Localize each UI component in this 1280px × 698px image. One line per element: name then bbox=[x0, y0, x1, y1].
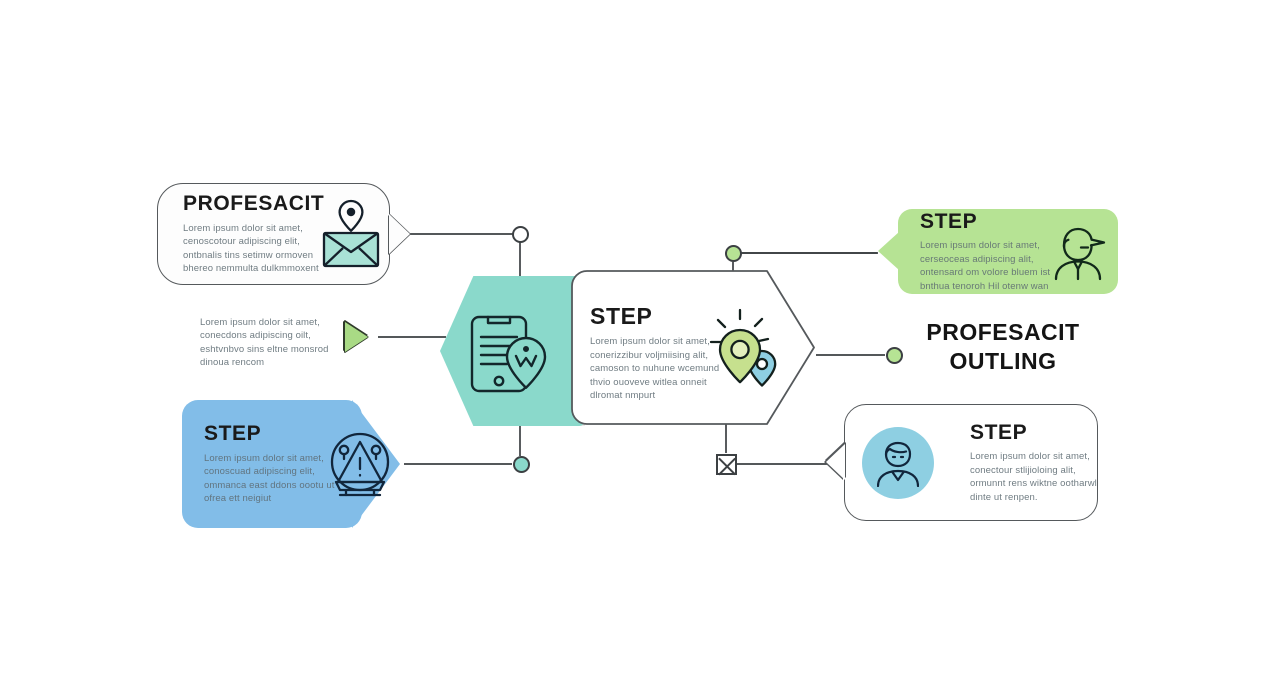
body-line: conoscuad adipiscing elit, bbox=[204, 465, 335, 478]
card-step-white-tail bbox=[826, 444, 845, 480]
card-center-body: Lorem ipsum dolor sit amet, conerizzibur… bbox=[590, 335, 719, 402]
card-profesacit-text: PROFESACIT Lorem ipsum dolor sit amet, c… bbox=[183, 192, 324, 275]
body-line: ormunnt rens wiktne ootharwl bbox=[970, 477, 1097, 490]
card-step-green-title: STEP bbox=[920, 210, 1050, 233]
body-line: conerizzibur voljmiising alit, bbox=[590, 349, 719, 362]
card-center-text: STEP Lorem ipsum dolor sit amet, coneriz… bbox=[590, 304, 719, 403]
document-phone-pin-icon bbox=[468, 313, 556, 395]
body-line: ontbnalis tins setimw ormoven bbox=[183, 249, 324, 262]
person-avatar-icon bbox=[877, 441, 919, 487]
body-line: cenoscotour adipiscing elit, bbox=[183, 235, 324, 248]
body-line: Lorem ipsum dolor sit amet, bbox=[970, 450, 1097, 463]
body-line: Lorem ipsum dolor sit amet, bbox=[183, 222, 324, 235]
card-step-white-body: Lorem ipsum dolor sit amet, conectour st… bbox=[970, 450, 1097, 504]
card-center-title: STEP bbox=[590, 304, 719, 329]
node-green-circle-upper[interactable] bbox=[725, 245, 742, 262]
body-line: camoson to nuhune wcemund bbox=[590, 362, 719, 375]
infographic-canvas: PROFESACIT Lorem ipsum dolor sit amet, c… bbox=[0, 0, 1280, 698]
card-step-blue-body: Lorem ipsum dolor sit amet, conoscuad ad… bbox=[204, 452, 335, 506]
card-step-blue[interactable]: STEP Lorem ipsum dolor sit amet, conoscu… bbox=[182, 400, 362, 528]
envelope-pin-icon bbox=[318, 197, 384, 269]
body-line: Lorem ipsum dolor sit amet, bbox=[920, 239, 1050, 252]
body-line: Lorem ipsum dolor sit amet, bbox=[204, 452, 335, 465]
body-line: dinoua rencom bbox=[200, 356, 330, 369]
body-line: thvio ouoveve witlea onneit bbox=[590, 376, 719, 389]
card-profesacit-tail bbox=[389, 214, 410, 254]
card-step-green-body: Lorem ipsum dolor sit amet, cerseoceas a… bbox=[920, 239, 1050, 293]
heading-line-1: PROFESACIT bbox=[918, 318, 1088, 347]
body-line: bhereo nemmulta dulkmmoxent bbox=[183, 262, 324, 275]
node-teal-circle-lower[interactable] bbox=[513, 456, 530, 473]
body-line: conecdons adipiscing oilt, bbox=[200, 329, 330, 342]
green-triangle-marker[interactable] bbox=[345, 322, 368, 352]
card-step-white-title: STEP bbox=[970, 421, 1097, 444]
body-line: cerseoceas adipiscing alit, bbox=[920, 253, 1050, 266]
card-profesacit[interactable]: PROFESACIT Lorem ipsum dolor sit amet, c… bbox=[157, 183, 390, 285]
twin-location-pins-icon bbox=[708, 308, 792, 390]
person-cap-icon bbox=[1048, 223, 1108, 281]
heading-line-2: OUTLING bbox=[918, 347, 1088, 376]
card-profesacit-title: PROFESACIT bbox=[183, 192, 324, 215]
card-step-green-tail bbox=[878, 232, 899, 270]
card-step-green[interactable]: STEP Lorem ipsum dolor sit amet, cerseoc… bbox=[898, 209, 1118, 294]
body-line: conectour stlijioloing alit, bbox=[970, 464, 1097, 477]
body-line: Lorem ipsum dolor sit amet, bbox=[200, 316, 330, 329]
loose-text-block: Lorem ipsum dolor sit amet, conecdons ad… bbox=[200, 316, 330, 370]
body-line: bnthua tenoroh Hil otenw wan bbox=[920, 280, 1050, 293]
node-green-circle-right[interactable] bbox=[886, 347, 903, 364]
warning-dish-icon bbox=[324, 428, 396, 500]
loose-text-body: Lorem ipsum dolor sit amet, conecdons ad… bbox=[200, 316, 330, 370]
card-step-blue-text: STEP Lorem ipsum dolor sit amet, conoscu… bbox=[204, 422, 335, 505]
body-line: Lorem ipsum dolor sit amet, bbox=[590, 335, 719, 348]
body-line: ontensard om volore bluem ist bbox=[920, 266, 1050, 279]
body-line: ommanca east ddons oootu ut bbox=[204, 479, 335, 492]
body-line: ofrea ett neigiut bbox=[204, 492, 335, 505]
body-line: dinte ut renpen. bbox=[970, 491, 1097, 504]
node-square-x[interactable] bbox=[716, 454, 737, 475]
card-step-blue-title: STEP bbox=[204, 422, 335, 445]
body-line: eshtvnbvo sins eltne monsrod bbox=[200, 343, 330, 356]
card-center[interactable]: STEP Lorem ipsum dolor sit amet, coneriz… bbox=[440, 270, 815, 430]
node-top-white-circle[interactable] bbox=[512, 226, 529, 243]
card-step-green-text: STEP Lorem ipsum dolor sit amet, cerseoc… bbox=[920, 210, 1050, 293]
body-line: dlromat nmpurt bbox=[590, 389, 719, 402]
heading-profesacit-outling: PROFESACIT OUTLING bbox=[918, 318, 1088, 377]
card-step-white-text: STEP Lorem ipsum dolor sit amet, conecto… bbox=[970, 421, 1097, 504]
card-step-white[interactable]: STEP Lorem ipsum dolor sit amet, conecto… bbox=[844, 404, 1098, 521]
card-profesacit-body: Lorem ipsum dolor sit amet, cenoscotour … bbox=[183, 222, 324, 276]
